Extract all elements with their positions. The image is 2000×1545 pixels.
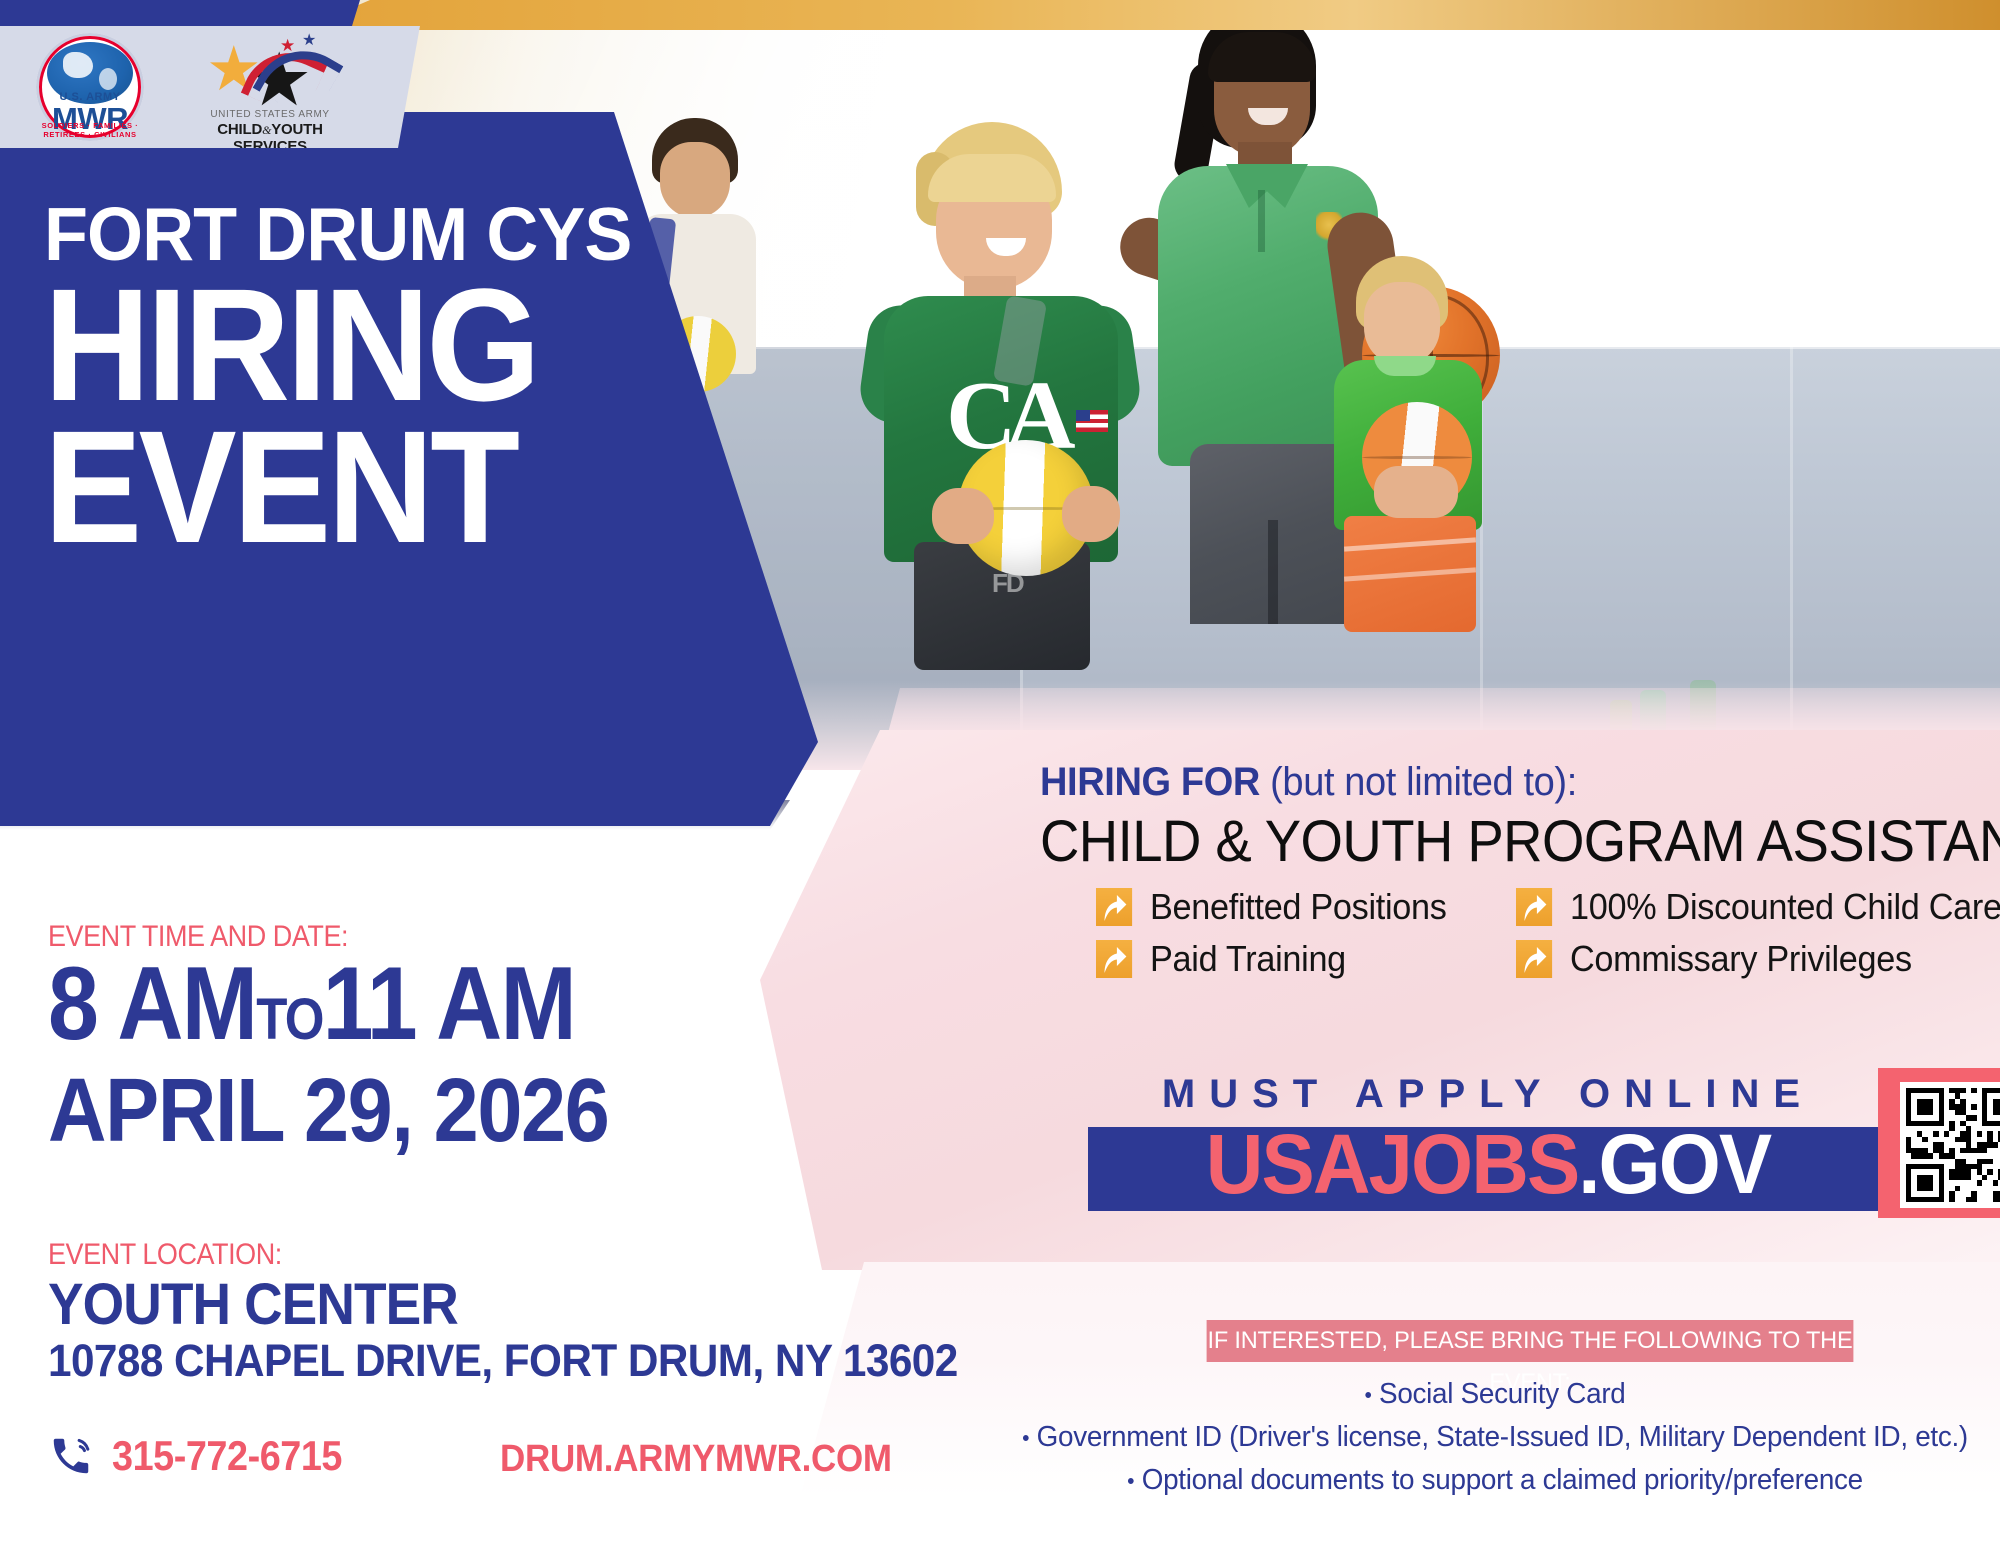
- gold-accent-bar: [300, 0, 2000, 30]
- event-time-value: 8 AMTO11 AM: [48, 956, 664, 1068]
- logo-plaque: U.S. ARMY MWR SOLDIERS · FAMILIES · RETI…: [0, 26, 420, 148]
- cys-subtitle: UNITED STATES ARMY: [180, 109, 360, 120]
- event-date-value: APRIL 29, 2026: [48, 1068, 678, 1154]
- time-end: 11 AM: [323, 946, 575, 1062]
- headline-line-3: EVENT: [44, 416, 688, 558]
- hiring-event-flyer: CA FD: [0, 0, 2000, 1545]
- curved-arrow-icon: [1516, 940, 1552, 978]
- apply-url-bar[interactable]: USAJOBS.GOV: [1088, 1127, 1888, 1211]
- bullet-icon: •: [1127, 1468, 1134, 1493]
- bring-item: • Optional documents to support a claime…: [1010, 1464, 1980, 1497]
- qr-code-grid: [1906, 1088, 2000, 1202]
- bring-item-label: Social Security Card: [1379, 1378, 1625, 1410]
- apply-url[interactable]: USAJOBS.GOV: [1108, 1118, 1868, 1210]
- mwr-logo: U.S. ARMY MWR SOLDIERS · FAMILIES · RETI…: [36, 33, 144, 141]
- event-location-block: EVENT LOCATION: YOUTH CENTER 10788 CHAPE…: [48, 1238, 948, 1388]
- curved-arrow-icon: [1516, 888, 1552, 926]
- curved-arrow-icon: [1096, 940, 1132, 978]
- apply-url-name: USAJOBS: [1206, 1117, 1579, 1211]
- benefit-label: Paid Training: [1150, 938, 1346, 980]
- benefit-item: Paid Training: [1096, 938, 1516, 980]
- toddler-with-ball: [1330, 250, 1530, 630]
- event-location-name: YOUTH CENTER: [48, 1276, 876, 1334]
- bring-item-label: Optional documents to support a claimed …: [1142, 1464, 1863, 1496]
- apply-online-block: MUST APPLY ONLINE USAJOBS.GOV: [1088, 1072, 2000, 1222]
- position-title: CHILD & YOUTH PROGRAM ASSISTANT: [1040, 808, 2000, 875]
- hiring-for-rest: (but not limited to):: [1260, 760, 1577, 804]
- event-time-block: EVENT TIME AND DATE: 8 AMTO11 AM APRIL 2…: [48, 920, 748, 1154]
- hiring-for-label: HIRING FOR (but not limited to):: [1040, 760, 1577, 805]
- benefits-list: Benefitted Positions 100% Discounted Chi…: [1096, 886, 1976, 980]
- benefit-item: 100% Discounted Child Care: [1516, 886, 1976, 928]
- benefit-label: Benefitted Positions: [1150, 886, 1447, 928]
- time-start: 8 AM: [48, 946, 256, 1062]
- website-url[interactable]: DRUM.ARMYMWR.COM: [500, 1438, 892, 1481]
- qr-code-container[interactable]: [1878, 1068, 2000, 1218]
- curved-arrow-icon: [1096, 888, 1132, 926]
- hiring-for-bold: HIRING FOR: [1040, 760, 1260, 804]
- bring-item-label: Government ID (Driver's license, State-I…: [1037, 1421, 1968, 1453]
- cys-ampersand: &: [262, 123, 271, 137]
- qr-code[interactable]: [1900, 1082, 2000, 1208]
- event-location-label: EVENT LOCATION:: [48, 1238, 858, 1272]
- bullet-icon: •: [1022, 1425, 1029, 1450]
- child-with-yellow-ball: CA FD: [880, 110, 1180, 670]
- cys-logo: UNITED STATES ARMY CHILD&YOUTH SERVICES: [180, 35, 360, 139]
- headline-line-2: HIRING: [44, 274, 688, 416]
- apply-url-tld: .GOV: [1578, 1117, 1770, 1211]
- bring-item: • Social Security Card: [1010, 1378, 1980, 1411]
- phone-number[interactable]: 315-772-6715: [112, 1432, 342, 1480]
- phone-icon: [48, 1433, 94, 1479]
- benefit-item: Benefitted Positions: [1096, 886, 1516, 928]
- bring-items-list: • Social Security Card • Government ID (…: [990, 1378, 2000, 1507]
- time-separator: TO: [256, 987, 322, 1052]
- event-location-address: 10788 CHAPEL DRIVE, FORT DRUM, NY 13602: [48, 1334, 894, 1388]
- bullet-icon: •: [1364, 1382, 1371, 1407]
- mwr-arc-text: SOLDIERS · FAMILIES · RETIREES · CIVILIA…: [36, 121, 144, 139]
- cys-title-a: CHILD: [217, 121, 262, 138]
- bring-items-header: IF INTERESTED, PLEASE BRING THE FOLLOWIN…: [1207, 1320, 1854, 1362]
- headline-block: FORT DRUM CYS HIRING EVENT: [44, 198, 744, 558]
- benefit-label: Commissary Privileges: [1570, 938, 1912, 980]
- benefit-item: Commissary Privileges: [1516, 938, 1976, 980]
- benefit-label: 100% Discounted Child Care: [1570, 886, 2000, 928]
- bring-item: • Government ID (Driver's license, State…: [1010, 1421, 1980, 1454]
